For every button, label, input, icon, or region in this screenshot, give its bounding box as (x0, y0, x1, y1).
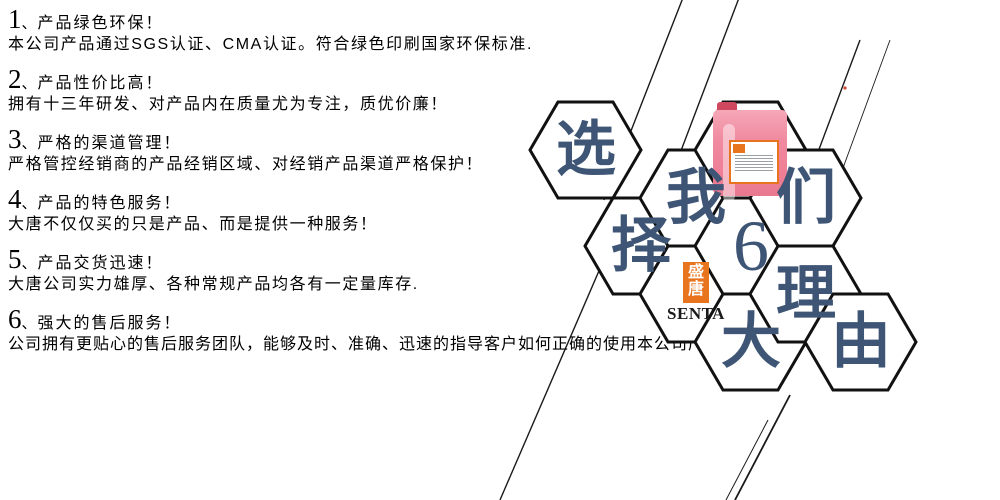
logo-wordmark: SENTA (651, 304, 741, 324)
jug-label-line (735, 161, 773, 162)
reason-number: 1 (8, 6, 22, 33)
reason-separator: 、 (22, 256, 37, 271)
reason-number: 5 (8, 246, 22, 273)
product-photo (709, 100, 791, 198)
jug-label-bar (733, 144, 745, 153)
reason-separator: 、 (22, 196, 37, 211)
honeycomb-graphic: 选 择 我 们 6 大 理 由 盛 唐 SENTA (500, 80, 1000, 450)
reason-title: 产品的特色服务！ (38, 196, 182, 212)
jug-label-line (735, 170, 773, 171)
reason-title: 产品绿色环保！ (38, 16, 164, 32)
reason-title: 强大的售后服务！ (38, 316, 182, 332)
reason-title: 产品性价比高！ (38, 76, 164, 92)
jug-label-line (735, 158, 773, 159)
promo-page: 1 、 产品绿色环保！ 本公司产品通过SGS认证、CMA认证。符合绿色印刷国家环… (0, 0, 1000, 500)
reason-number: 3 (8, 126, 22, 153)
reason-number: 6 (8, 306, 22, 333)
reason-separator: 、 (22, 16, 37, 31)
logo-seal-char-2: 唐 (688, 282, 704, 299)
jug-body (713, 110, 787, 196)
reason-separator: 、 (22, 76, 37, 91)
reason-separator: 、 (22, 316, 37, 331)
brand-logo: 盛 唐 SENTA (651, 262, 741, 324)
reason-separator: 、 (22, 136, 37, 151)
jug-label (729, 140, 779, 184)
reason-number: 4 (8, 186, 22, 213)
jug-label-line (735, 164, 773, 165)
reason-number: 2 (8, 66, 22, 93)
reason-heading: 1 、 产品绿色环保！ (8, 6, 708, 33)
reason-title: 产品交货迅速！ (38, 256, 164, 272)
logo-seal-mark: 盛 唐 (683, 262, 709, 303)
reason-item: 1 、 产品绿色环保！ 本公司产品通过SGS认证、CMA认证。符合绿色印刷国家环… (8, 6, 708, 55)
jug-label-line (735, 167, 773, 168)
reason-title: 严格的渠道管理！ (38, 136, 182, 152)
reason-body: 本公司产品通过SGS认证、CMA认证。符合绿色印刷国家环保标准. (8, 35, 708, 55)
logo-seal-char-1: 盛 (688, 265, 704, 282)
jug-label-line (735, 155, 773, 156)
